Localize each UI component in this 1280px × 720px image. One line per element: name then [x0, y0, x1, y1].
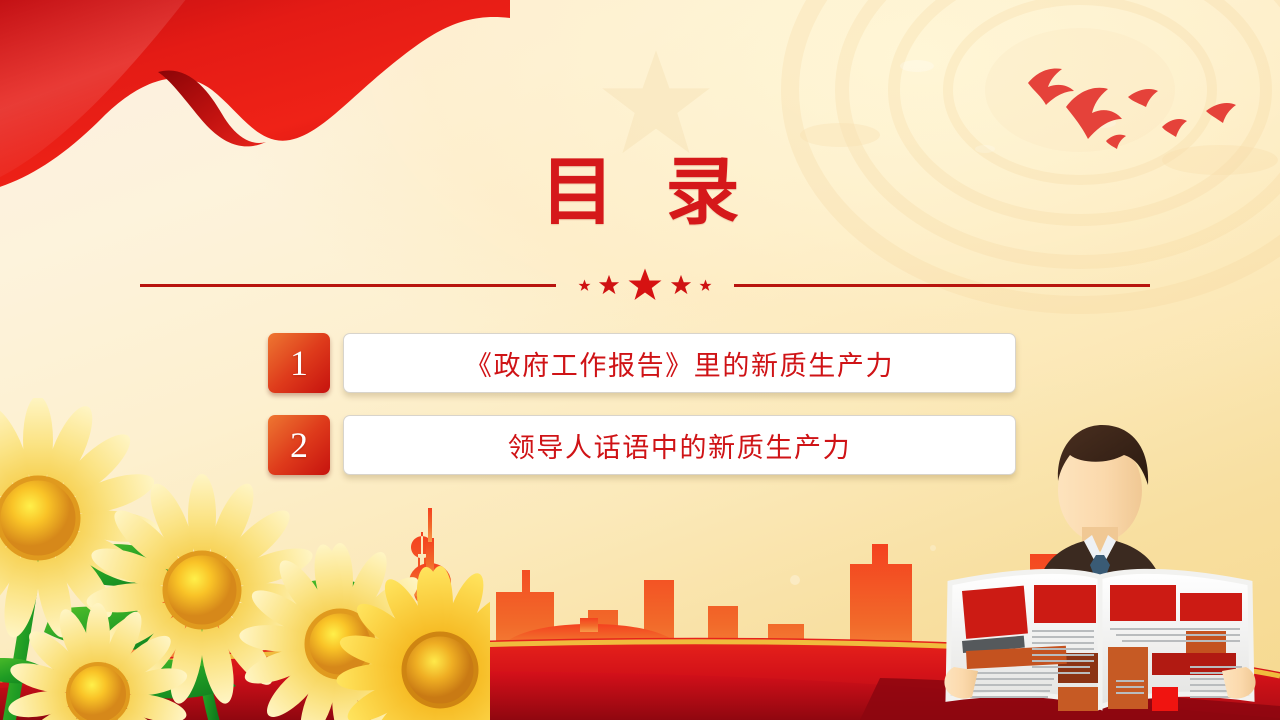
table-of-contents: 1 《政府工作报告》里的新质生产力 2 领导人话语中的新质生产力 [268, 333, 1016, 497]
toc-item-2[interactable]: 2 领导人话语中的新质生产力 [268, 415, 1016, 475]
toc-label-2: 领导人话语中的新质生产力 [508, 426, 851, 465]
large-star-icon [627, 267, 663, 303]
divider-rule-right [734, 284, 1150, 287]
medium-star-icon [598, 274, 620, 296]
page-title: 目 录 [0, 132, 1280, 239]
toc-number-badge-2: 2 [268, 415, 330, 475]
divider-stars [556, 267, 734, 303]
toc-item-1[interactable]: 1 《政府工作报告》里的新质生产力 [268, 333, 1016, 393]
medium-star-icon [670, 274, 692, 296]
toc-card-1[interactable]: 《政府工作报告》里的新质生产力 [343, 333, 1016, 393]
small-star-icon [578, 279, 591, 292]
star-divider [140, 268, 1150, 302]
toc-label-1: 《政府工作报告》里的新质生产力 [465, 344, 894, 383]
presentation-slide: 目 录 [0, 0, 1280, 720]
small-star-icon [699, 279, 712, 292]
divider-rule-left [140, 284, 556, 287]
toc-card-2[interactable]: 领导人话语中的新质生产力 [343, 415, 1016, 475]
toc-number-badge-1: 1 [268, 333, 330, 393]
